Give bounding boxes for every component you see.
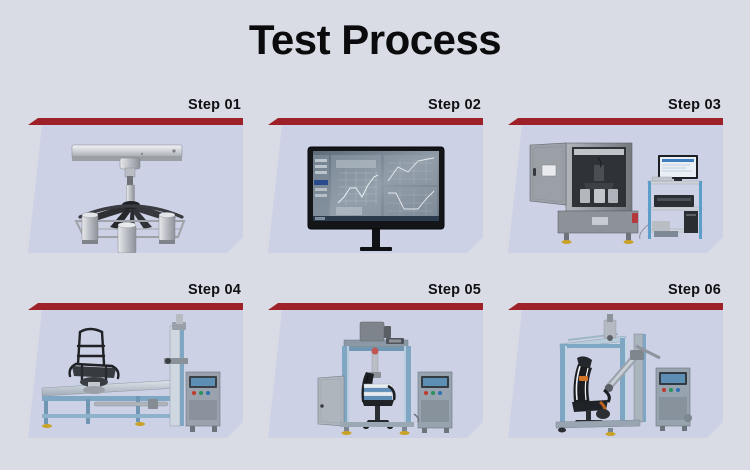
step-card[interactable]: Step 03: [508, 95, 723, 280]
backrest-fatigue-test-rig-image: [508, 310, 723, 438]
horizontal-chair-durability-test-bench-image: [28, 310, 243, 438]
step-image-frame: [508, 125, 723, 253]
step-accent-bar: [508, 303, 723, 310]
test-data-monitor-display-image: [268, 125, 483, 253]
vertical-seat-impact-test-rig-image: [268, 310, 483, 438]
chair-base-static-load-test-machine-image: [28, 125, 243, 253]
step-label: Step 01: [28, 95, 243, 115]
step-label: Step 03: [508, 95, 723, 115]
page-title: Test Process: [0, 0, 750, 62]
step-accent-bar: [28, 303, 243, 310]
step-image-frame: [508, 310, 723, 438]
step-label: Step 02: [268, 95, 483, 115]
step-image-frame: [28, 310, 243, 438]
step-label: Step 05: [268, 280, 483, 300]
step-image-frame: [28, 125, 243, 253]
step-accent-bar: [268, 303, 483, 310]
step-accent-bar: [28, 118, 243, 125]
step-card[interactable]: Step 05: [268, 280, 483, 465]
step-card[interactable]: Step 06: [508, 280, 723, 465]
enclosed-test-chamber-with-workstation-image: [508, 125, 723, 253]
step-card[interactable]: Step 04: [28, 280, 243, 465]
step-card[interactable]: Step 01: [28, 95, 243, 280]
step-label: Step 06: [508, 280, 723, 300]
step-accent-bar: [508, 118, 723, 125]
step-image-frame: [268, 125, 483, 253]
step-image-frame: [268, 310, 483, 438]
step-label: Step 04: [28, 280, 243, 300]
step-card[interactable]: Step 02: [268, 95, 483, 280]
steps-grid: Step 01: [28, 95, 722, 465]
poster-root: Test Process Step 01: [0, 0, 750, 470]
step-accent-bar: [268, 118, 483, 125]
